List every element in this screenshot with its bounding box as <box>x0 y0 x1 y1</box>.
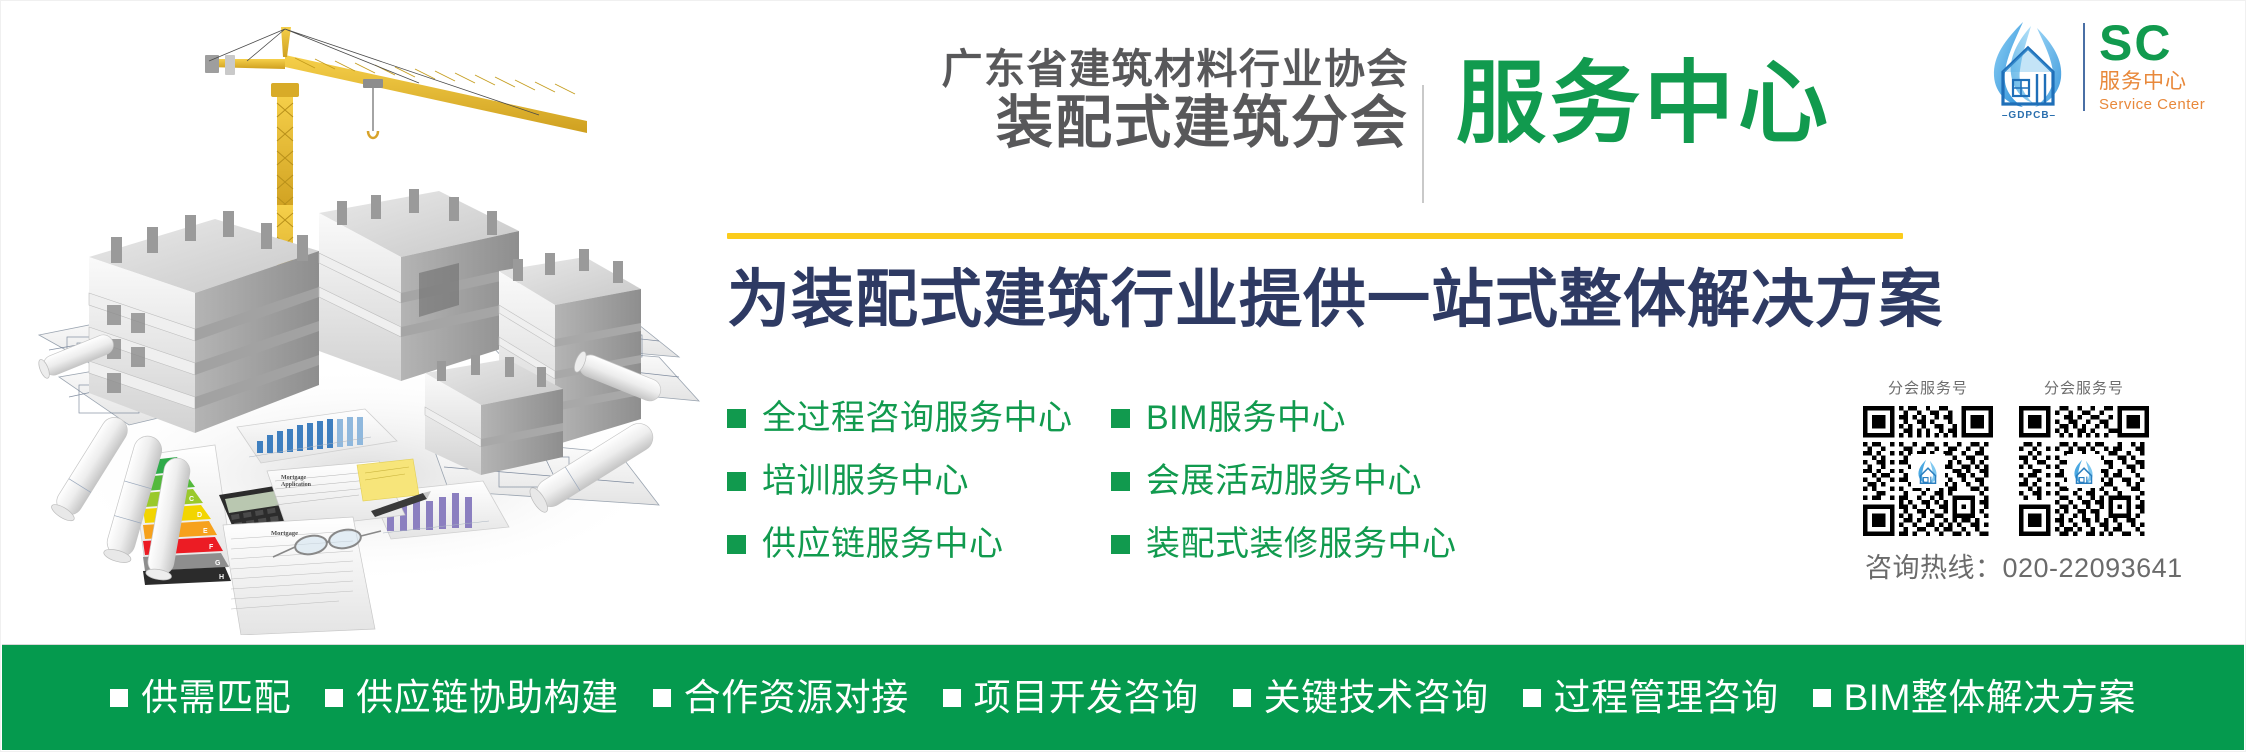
qr-code-row: 分会服务号 <box>1863 377 2213 536</box>
svg-text:F: F <box>209 544 214 551</box>
bottom-item-project-development-consulting[interactable]: 项目开发咨询 <box>943 679 1199 716</box>
gold-divider-rule <box>727 233 1903 239</box>
association-name-line1: 广东省建筑材料行业协会 <box>849 48 1409 91</box>
square-bullet-icon <box>727 472 746 491</box>
qr-block-2[interactable]: 分会服务号 <box>2019 377 2149 536</box>
bottom-item-label: BIM整体解决方案 <box>1844 679 2136 716</box>
svg-text:Mortgage: Mortgage <box>271 530 298 537</box>
bottom-item-cooperative-resources[interactable]: 合作资源对接 <box>653 679 909 716</box>
tagline: 为装配式建筑行业提供一站式整体解决方案 <box>727 265 1917 336</box>
association-title: 广东省建筑材料行业协会 装配式建筑分会 <box>849 48 1409 154</box>
service-list-right: BIM服务中心 会展活动服务中心 装配式装修服务中心 <box>1111 401 1531 561</box>
bottom-item-process-management-consulting[interactable]: 过程管理咨询 <box>1523 679 1779 716</box>
svg-text:Application: Application <box>281 482 312 488</box>
service-item-label: 会展活动服务中心 <box>1146 464 1422 498</box>
service-center-title: 服务中心 <box>1456 57 1832 152</box>
logo-vertical-divider <box>2083 23 2085 111</box>
bottom-items-row: 供需匹配 供应链协助构建 合作资源对接 项目开发咨询 关键技术咨询 过程管理咨询 <box>110 679 2136 716</box>
bottom-item-supply-chain-construction[interactable]: 供应链协助构建 <box>325 679 619 716</box>
logo-english-label: Service Center <box>2099 96 2205 114</box>
bottom-item-label: 合作资源对接 <box>684 679 909 716</box>
service-item-label: 全过程咨询服务中心 <box>762 401 1073 435</box>
service-item-bim[interactable]: BIM服务中心 <box>1111 401 1531 435</box>
square-bullet-icon <box>1813 689 1831 707</box>
qr-code-icon[interactable] <box>1863 406 1993 536</box>
square-bullet-icon <box>727 535 746 554</box>
service-item-full-process-consulting[interactable]: 全过程咨询服务中心 <box>727 401 1063 435</box>
square-bullet-icon <box>1111 535 1130 554</box>
bottom-item-key-technology-consulting[interactable]: 关键技术咨询 <box>1233 679 1489 716</box>
logo-chinese-label: 服务中心 <box>2099 69 2187 95</box>
square-bullet-icon <box>1233 689 1251 707</box>
gdpcb-house-flame-icon: –GDPCB– <box>1979 12 2079 122</box>
square-bullet-icon <box>943 689 961 707</box>
qr-center-logo-icon <box>2067 454 2101 488</box>
bottom-services-bar: 供需匹配 供应链协助构建 合作资源对接 项目开发咨询 关键技术咨询 过程管理咨询 <box>2 644 2244 750</box>
bottom-item-label: 供需匹配 <box>141 679 291 716</box>
association-branch-line2: 装配式建筑分会 <box>849 93 1409 153</box>
qr-block-1[interactable]: 分会服务号 <box>1863 377 1993 536</box>
service-item-training[interactable]: 培训服务中心 <box>727 464 1063 498</box>
square-bullet-icon <box>727 409 746 428</box>
svg-text:G: G <box>215 560 221 567</box>
square-bullet-icon <box>110 689 128 707</box>
square-bullet-icon <box>325 689 343 707</box>
qr-code-icon[interactable] <box>2019 406 2149 536</box>
service-item-label: 培训服务中心 <box>762 464 969 498</box>
qr-center-logo-icon <box>1911 454 1945 488</box>
service-list-left: 全过程咨询服务中心 培训服务中心 供应链服务中心 <box>727 401 1063 561</box>
svg-text:C: C <box>189 496 194 503</box>
service-item-label: 装配式装修服务中心 <box>1146 527 1457 561</box>
service-center-lists: 全过程咨询服务中心 培训服务中心 供应链服务中心 BIM服务中心 会展活动服务中… <box>727 401 1817 561</box>
hotline-text: 咨询热线：020-22093641 <box>1863 546 2213 585</box>
square-bullet-icon <box>1111 409 1130 428</box>
bottom-item-label: 过程管理咨询 <box>1554 679 1779 716</box>
header-vertical-divider <box>1422 85 1424 203</box>
brand-logo[interactable]: –GDPCB– SC 服务中心 Service Center <box>1979 11 2235 123</box>
service-item-exhibition-events[interactable]: 会展活动服务中心 <box>1111 464 1531 498</box>
square-bullet-icon <box>1523 689 1541 707</box>
logo-sc-initials: SC <box>2099 20 2172 67</box>
qr-caption: 分会服务号 <box>2019 377 2149 398</box>
construction-site-render: AB CD EF GH <box>19 5 709 635</box>
promotional-banner: AB CD EF GH <box>0 0 2246 752</box>
bottom-item-label: 项目开发咨询 <box>974 679 1199 716</box>
square-bullet-icon <box>1111 472 1130 491</box>
qr-contact-section: 分会服务号 <box>1863 377 2213 585</box>
svg-text:D: D <box>197 512 202 519</box>
bottom-item-supply-demand-matching[interactable]: 供需匹配 <box>110 679 291 716</box>
bottom-item-label: 关键技术咨询 <box>1264 679 1489 716</box>
qr-caption: 分会服务号 <box>1863 377 1993 398</box>
service-item-label: BIM服务中心 <box>1146 401 1346 435</box>
square-bullet-icon <box>653 689 671 707</box>
bottom-item-bim-total-solution[interactable]: BIM整体解决方案 <box>1813 679 2136 716</box>
service-item-label: 供应链服务中心 <box>762 527 1004 561</box>
svg-text:E: E <box>203 528 208 535</box>
svg-text:H: H <box>219 574 224 581</box>
logo-emblem-text: –GDPCB– <box>2002 110 2056 121</box>
svg-text:Mortgage: Mortgage <box>281 475 306 481</box>
bottom-item-label: 供应链协助构建 <box>356 679 619 716</box>
service-item-supply-chain[interactable]: 供应链服务中心 <box>727 527 1063 561</box>
service-item-prefab-decoration[interactable]: 装配式装修服务中心 <box>1111 527 1531 561</box>
logo-wordmark: SC 服务中心 Service Center <box>2099 20 2205 113</box>
